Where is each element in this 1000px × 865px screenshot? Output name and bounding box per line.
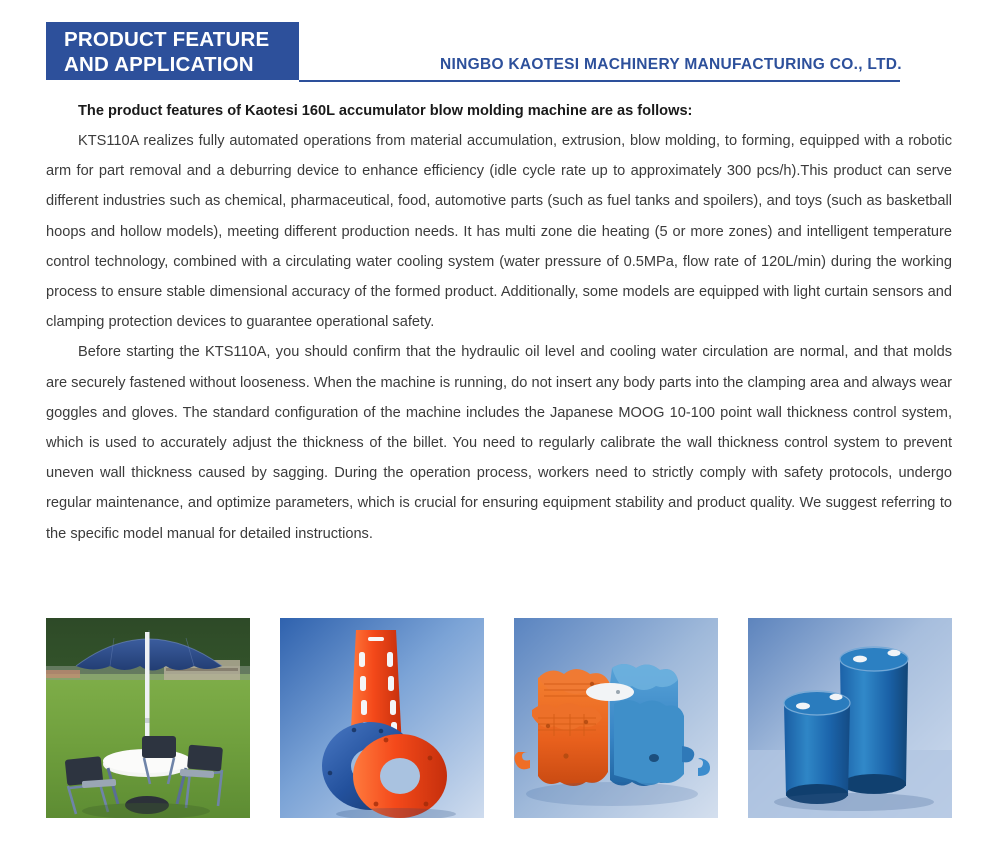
header-banner: PRODUCT FEATURE AND APPLICATION	[46, 22, 299, 80]
paragraph-1: KTS110A realizes fully automated operati…	[46, 126, 952, 337]
page-header: PRODUCT FEATURE AND APPLICATION NINGBO K…	[0, 0, 1000, 92]
photo-floating-dock-modules	[514, 618, 718, 818]
paragraph-2: Before starting the KTS110A, you should …	[46, 337, 952, 548]
photo-rescue-board-life-rings	[280, 618, 484, 818]
article-body: The product features of Kaotesi 160L acc…	[46, 96, 952, 549]
lead-paragraph: The product features of Kaotesi 160L acc…	[78, 96, 952, 126]
header-banner-line-2: AND APPLICATION	[64, 52, 299, 77]
photo-patio-umbrella-table-chairs	[46, 618, 250, 818]
photo-blue-plastic-drums	[748, 618, 952, 818]
header-divider	[299, 80, 900, 82]
header-banner-line-1: PRODUCT FEATURE	[64, 27, 299, 52]
company-name: NINGBO KAOTESI MACHINERY MANUFACTURING C…	[440, 56, 902, 74]
product-photo-gallery	[46, 618, 952, 818]
